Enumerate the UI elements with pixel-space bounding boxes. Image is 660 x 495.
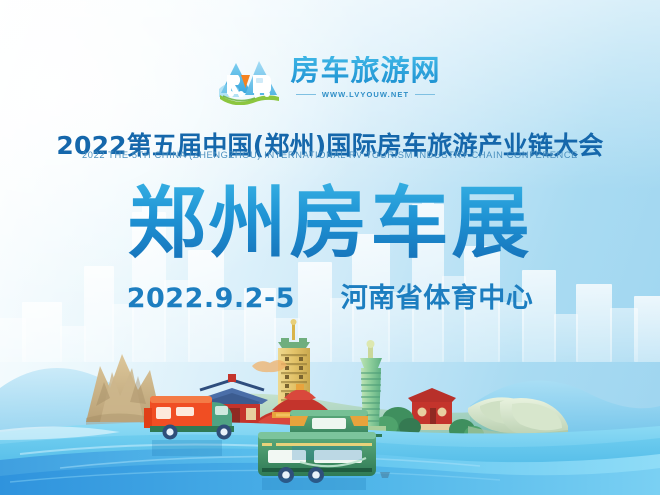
scenery-illustration	[0, 310, 660, 495]
divider-left	[296, 94, 316, 95]
rv-mountain-logo-icon	[219, 49, 281, 105]
divider-right	[415, 94, 435, 95]
brand-url-row: WWW.LVYOUW.NET	[296, 90, 435, 99]
conference-title-en: 2022 THE 5TH CHINA (ZHENGZHOU) INTERNATI…	[0, 150, 660, 160]
page-title: 郑州房车展	[0, 182, 660, 266]
poster-canvas: 房车旅游网 WWW.LVYOUW.NET 2022第五届中国(郑州)国际房车旅游…	[0, 0, 660, 495]
brand-url: WWW.LVYOUW.NET	[322, 90, 409, 99]
brand-name-zh: 房车旅游网	[290, 56, 440, 87]
site-logo[interactable]: 房车旅游网 WWW.LVYOUW.NET	[0, 46, 660, 108]
